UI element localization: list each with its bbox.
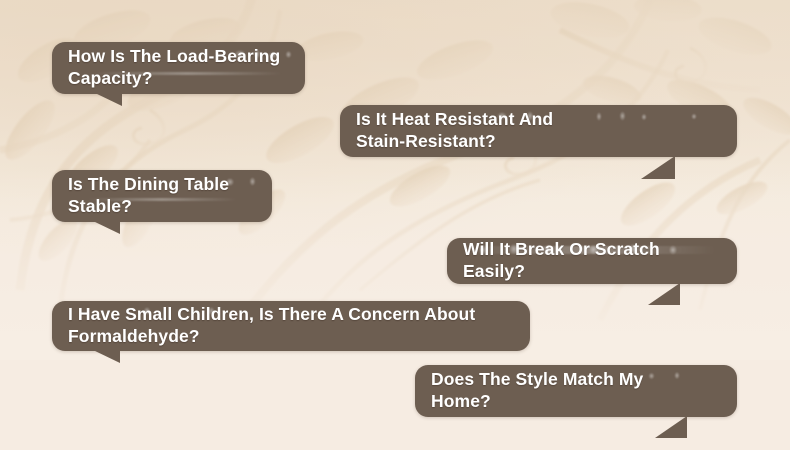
bubble-tail-formaldehyde bbox=[93, 350, 120, 363]
erased-text-smudge bbox=[618, 109, 627, 123]
speech-bubble-formaldehyde[interactable]: I Have Small Children, Is There A Concer… bbox=[52, 301, 530, 351]
bubble-text: How Is The Load-Bearing Capacity? bbox=[68, 45, 280, 90]
bubble-tail-load-bearing bbox=[95, 93, 122, 106]
bubble-text: Is The Dining Table Stable? bbox=[68, 173, 229, 218]
bubble-tail-break-or-scratch bbox=[648, 283, 680, 305]
speech-bubble-break-or-scratch[interactable]: Will It Break Or Scratch Easily? bbox=[447, 238, 737, 284]
erased-text-smudge bbox=[640, 112, 648, 122]
erased-text-smudge bbox=[673, 370, 681, 381]
bubble-text: Is It Heat Resistant And Stain-Resistant… bbox=[356, 108, 553, 153]
speech-bubble-load-bearing[interactable]: How Is The Load-Bearing Capacity? bbox=[52, 42, 305, 94]
erased-text-smudge bbox=[284, 49, 293, 60]
bubble-tail-style-match-home bbox=[655, 416, 687, 438]
speech-bubble-dining-table-stable[interactable]: Is The Dining Table Stable? bbox=[52, 170, 272, 222]
bubble-text: Does The Style Match My Home? bbox=[431, 368, 643, 413]
bubble-text: Will It Break Or Scratch Easily? bbox=[463, 238, 721, 283]
erased-text-smudge bbox=[595, 110, 603, 123]
speech-bubble-heat-stain-resistant[interactable]: Is It Heat Resistant And Stain-Resistant… bbox=[340, 105, 737, 157]
speech-bubble-canvas: How Is The Load-Bearing Capacity? Is It … bbox=[0, 0, 790, 450]
bubble-tail-heat-stain-resistant bbox=[641, 156, 675, 179]
erased-text-smudge bbox=[690, 112, 698, 121]
speech-bubble-style-match-home[interactable]: Does The Style Match My Home? bbox=[415, 365, 737, 417]
bubble-tail-dining-table-stable bbox=[93, 221, 120, 234]
bubble-text: I Have Small Children, Is There A Concer… bbox=[68, 303, 475, 348]
erased-text-smudge bbox=[248, 175, 257, 188]
erased-text-smudge bbox=[647, 371, 656, 381]
